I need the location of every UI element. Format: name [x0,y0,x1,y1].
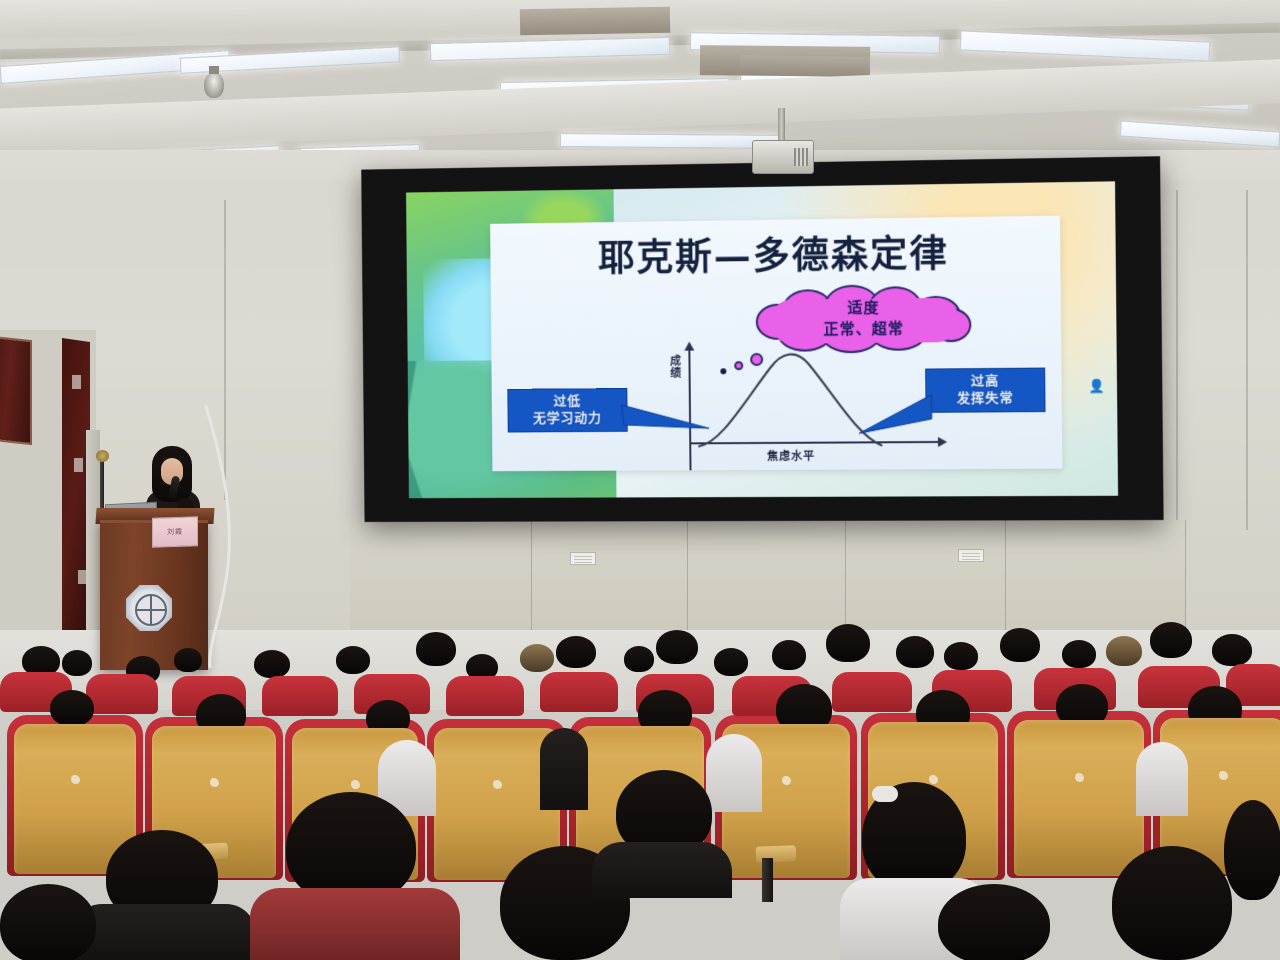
audience-head [624,646,654,672]
door-number-plate [72,375,81,389]
audience-head [1212,634,1252,666]
thought-bubble-line-2: 正常、超常 [756,318,973,341]
wall-access-plate [958,549,984,562]
callout-low-arousal: 过低 无学习动力 [507,388,627,433]
y-axis-label: 成绩 [665,355,681,379]
seat-post [762,858,773,902]
audience-head [938,884,1050,960]
audience-shoulders [72,904,256,960]
slide-content-card: 耶克斯—多德森定律 适度 正常、超常 [490,216,1062,472]
audience-head [772,640,806,670]
wall-panel [532,520,688,640]
audience-head [62,650,92,676]
audience-shoulders [540,728,588,810]
callout-low-line-2: 无学习动力 [514,410,620,428]
wall-seam [1246,190,1248,530]
auditorium-seat[interactable] [262,676,338,716]
school-emblem-icon [126,585,172,631]
auditorium-seat[interactable] [86,674,158,714]
callout-low-line-1: 过低 [514,393,620,411]
audience-shoulders [592,842,732,898]
callout-high-line-1: 过高 [932,373,1038,391]
door-number-plate [74,458,83,472]
wall-panel [350,520,532,640]
audience-shoulders [1136,742,1188,816]
thought-bubble-text: 适度 正常、超常 [756,297,973,341]
audience-head [1112,846,1232,960]
audience-head [336,646,370,674]
audience-head [416,632,456,666]
x-axis-label: 焦虑水平 [767,448,815,464]
wall-panel [846,520,1006,640]
wall-seam [1176,190,1178,530]
audience-head [1106,636,1142,666]
callout-high-line-2: 发挥失常 [932,390,1038,408]
auditorium-seat[interactable] [446,676,524,716]
dome-security-camera-icon [204,72,224,98]
wall-panel [688,520,846,640]
audience-head [1150,622,1192,658]
hair-tie-icon [872,786,898,802]
audience-head [556,636,596,668]
slide-title: 耶克斯—多德森定律 [490,222,1060,284]
presenter-name-card: 刘霞 [152,516,198,548]
ceiling-open-tile [740,55,870,77]
audience-head [826,624,870,662]
audience-head [656,630,698,664]
auditorium-seat[interactable] [832,672,912,712]
wall-access-plate [570,552,596,565]
projected-slide: 耶克斯—多德森定律 适度 正常、超常 [406,181,1118,498]
door-jamb [86,430,100,640]
audience-head [0,884,96,960]
audience-head [714,648,748,676]
auditorium-seat[interactable] [1014,720,1144,876]
callout-low-pointer [621,398,711,434]
audience-head [1000,628,1040,662]
audience-shoulders [706,734,762,812]
microphone-head-icon [96,450,109,462]
audience-head [174,648,202,672]
side-door[interactable] [0,336,32,445]
audience-shoulders [250,888,460,960]
audience-head [50,690,94,726]
audience-head [1224,800,1280,900]
audio-cable [196,400,256,670]
projector-vent-icon [794,148,808,166]
audience-head [520,644,554,672]
projector-mount [778,108,785,144]
audience-head [896,636,934,668]
ceiling-open-tile [520,7,670,36]
ceiling-projector [752,140,814,174]
mouse-cursor-icon: 👤 [1088,380,1098,393]
wall-panel [1006,520,1186,640]
projection-screen: 耶克斯—多德森定律 适度 正常、超常 [361,156,1163,522]
audience-head [944,642,978,670]
audience-head [254,650,290,678]
auditorium-seat[interactable] [540,672,618,712]
audience-head [1062,640,1096,668]
lecture-hall-scene: 耶克斯—多德森定律 适度 正常、超常 [0,0,1280,960]
callout-high-pointer [859,391,934,438]
thought-bubble-line-1: 适度 [756,297,973,320]
callout-high-arousal: 过高 发挥失常 [925,368,1045,413]
